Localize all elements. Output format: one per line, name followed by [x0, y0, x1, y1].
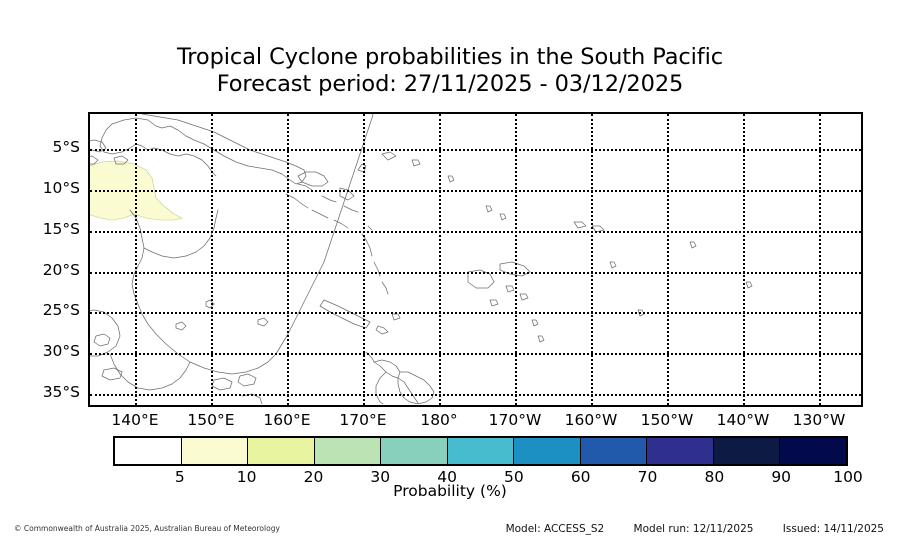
colorbar-segment-20-30: [315, 438, 382, 464]
model-run: Model run: 12/11/2025: [634, 523, 754, 535]
gridline-lat-25s: [90, 312, 861, 314]
gridline-lat-5s: [90, 149, 861, 151]
gridline-lon-170w: [515, 114, 517, 405]
gridline-lon-150w: [667, 114, 669, 405]
gridline-lon-180: [439, 114, 441, 405]
x-tick-170e: 170°E: [339, 411, 386, 429]
colorbar-axis-label: Probability (%): [0, 482, 900, 500]
x-tick-170w: 170°W: [489, 411, 542, 429]
map-plot-area: [88, 112, 863, 407]
model-metadata: Model: ACCESS_S2 Model run: 12/11/2025 I…: [506, 523, 884, 535]
y-tick-25s: 25°S: [18, 301, 80, 319]
probability-colorbar: [113, 436, 848, 466]
gridline-lat-20s: [90, 272, 861, 274]
x-tick-150w: 150°W: [641, 411, 694, 429]
title-line-2: Forecast period: 27/11/2025 - 03/12/2025: [0, 71, 900, 98]
map-clip: [90, 114, 861, 405]
gridline-lat-10s: [90, 190, 861, 192]
colorbar-segment-50-60: [514, 438, 581, 464]
gridline-lon-140e: [135, 114, 137, 405]
gridline-lat-30s: [90, 353, 861, 355]
x-tick-130w: 130°W: [793, 411, 846, 429]
colorbar-segment-10-20: [248, 438, 315, 464]
gridline-lon-170e: [363, 114, 365, 405]
x-tick-150e: 150°E: [187, 411, 234, 429]
y-tick-15s: 15°S: [18, 220, 80, 238]
x-tick-160w: 160°W: [565, 411, 618, 429]
gridline-lat-35s: [90, 394, 861, 396]
issued-date: Issued: 14/11/2025: [783, 523, 884, 535]
colorbar-segment-70-80: [647, 438, 714, 464]
y-tick-35s: 35°S: [18, 383, 80, 401]
gridline-lon-140w: [743, 114, 745, 405]
y-tick-20s: 20°S: [18, 261, 80, 279]
title-line-1: Tropical Cyclone probabilities in the So…: [0, 44, 900, 71]
colorbar-segment-90-100: [780, 438, 846, 464]
colorbar-segment-40-50: [448, 438, 515, 464]
x-axis-labels: 140°E 150°E 160°E 170°E 180° 170°W 160°W…: [88, 411, 863, 433]
colorbar-segment-0-5: [115, 438, 182, 464]
gridline-lon-130w: [819, 114, 821, 405]
x-tick-140w: 140°W: [717, 411, 770, 429]
colorbar-segment-5-10: [182, 438, 249, 464]
y-tick-5s: 5°S: [18, 138, 80, 156]
page-title: Tropical Cyclone probabilities in the So…: [0, 44, 900, 99]
gridline-lon-150e: [211, 114, 213, 405]
x-tick-180: 180°: [420, 411, 457, 429]
colorbar-segment-60-70: [581, 438, 648, 464]
copyright-notice: © Commonwealth of Australia 2025, Austra…: [14, 524, 280, 533]
gridline-lon-160w: [591, 114, 593, 405]
y-tick-10s: 10°S: [18, 179, 80, 197]
coastline-paths: [90, 114, 752, 404]
x-tick-140e: 140°E: [111, 411, 158, 429]
colorbar-segment-30-40: [381, 438, 448, 464]
y-axis-labels: 5°S 10°S 15°S 20°S 25°S 30°S 35°S: [14, 112, 80, 407]
model-name: Model: ACCESS_S2: [506, 523, 605, 535]
gridline-lon-160e: [287, 114, 289, 405]
y-tick-30s: 30°S: [18, 342, 80, 360]
gridline-lat-15s: [90, 231, 861, 233]
x-tick-160e: 160°E: [263, 411, 310, 429]
colorbar-segment-80-90: [714, 438, 781, 464]
